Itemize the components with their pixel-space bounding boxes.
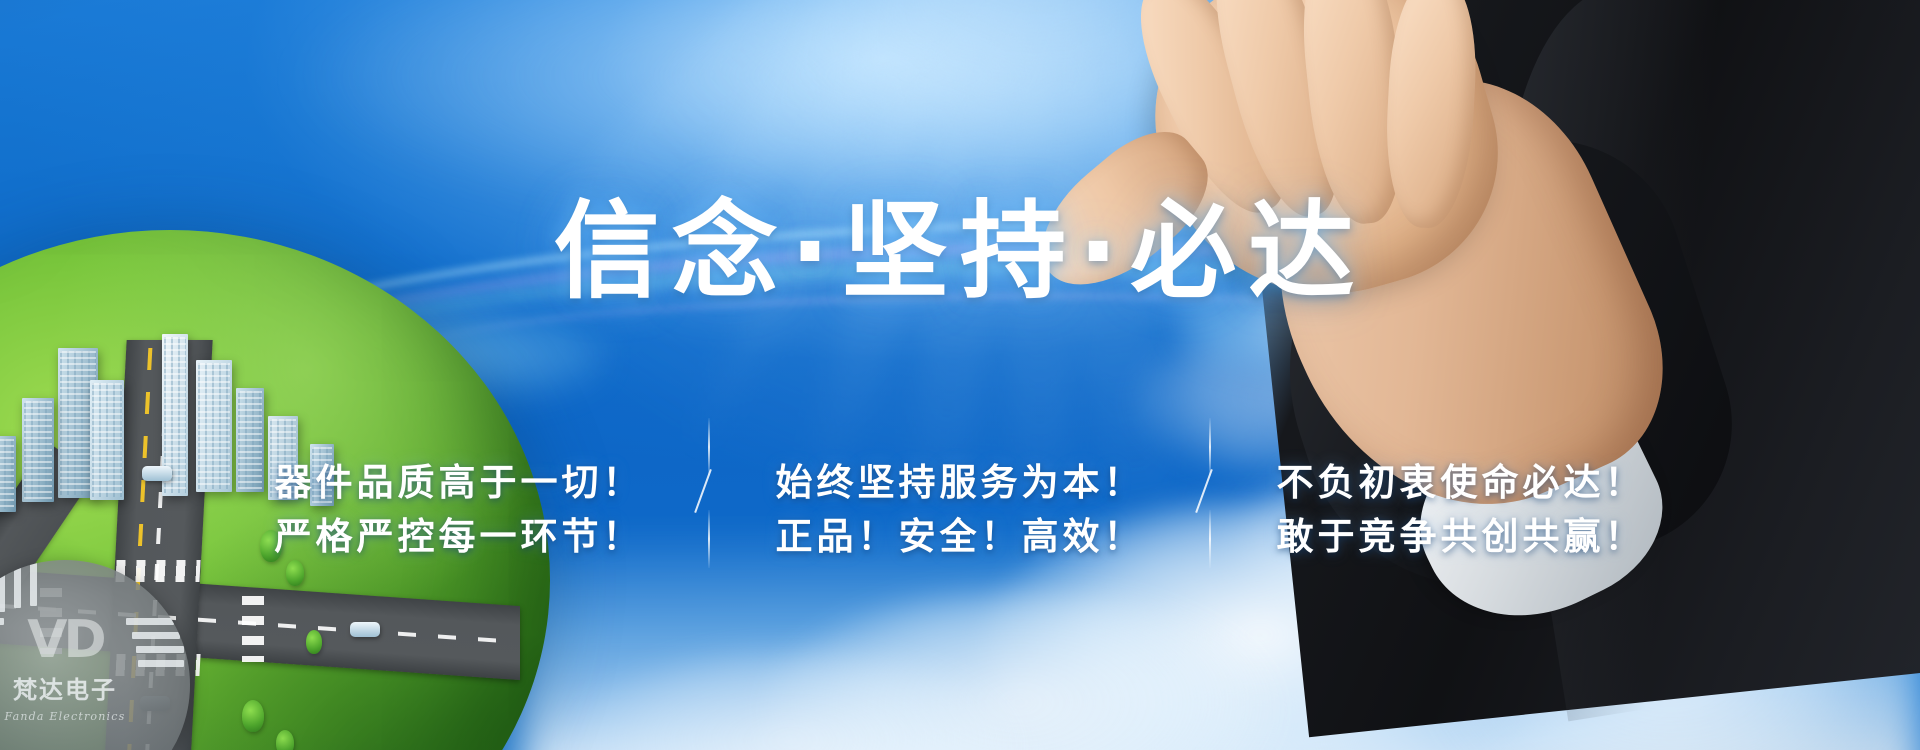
slogan-3-line-1: 不负初衷使命必达！ (1277, 460, 1646, 507)
slogan-divider (680, 418, 740, 568)
headline-text: 信念·坚持·必达 (554, 196, 1367, 307)
watermark-company-en: Fanda Electronics (0, 710, 190, 723)
businessman-handshake-photo (980, 0, 1920, 750)
slogan-2-line-1: 始终坚持服务为本！ (776, 460, 1145, 507)
slogan-3-line-2: 敢于竞争共创共赢！ (1277, 514, 1646, 561)
slogan-1-line-2: 严格严控每一环节！ (275, 514, 644, 561)
promotional-banner: VD 梵达电子 Fanda Electronics on 信念·坚持·必达 (0, 0, 1920, 750)
banner-headline: 信念·坚持·必达 (0, 196, 1920, 307)
watermark-chip: VD 梵达电子 Fanda Electronics (0, 560, 190, 750)
slogan-column-1: 器件品质高于一切！ 严格严控每一环节！ (239, 460, 680, 560)
slogan-column-3: 不负初衷使命必达！ 敢于竞争共创共赢！ (1241, 460, 1682, 560)
watermark-logo-mark: VD (0, 614, 190, 666)
car (350, 622, 380, 637)
slogan-column-2: 始终坚持服务为本！ 正品！安全！高效！ (740, 460, 1181, 560)
slogan-divider (1181, 418, 1241, 568)
slogan-row: 器件品质高于一切！ 严格严控每一环节！ 始终坚持服务为本！ 正品！安全！高效！ … (0, 460, 1920, 568)
watermark-company-cn: 梵达电子 (0, 670, 190, 705)
slogan-1-line-1: 器件品质高于一切！ (275, 460, 644, 507)
slogan-2-line-2: 正品！安全！高效！ (776, 514, 1145, 561)
